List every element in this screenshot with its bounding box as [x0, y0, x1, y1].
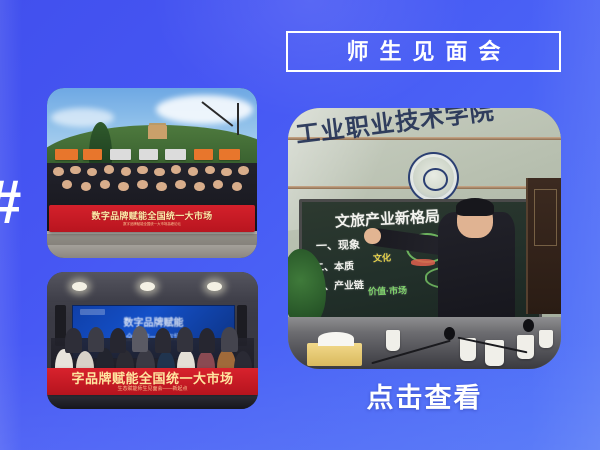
pagoda: [148, 125, 167, 139]
banner-subline: 数字品牌赋能全国统一大市场高峰论坛: [123, 223, 181, 226]
flag: [110, 149, 131, 160]
paper-cup: [539, 330, 553, 348]
event-banner: 数字品牌赋能全国统一大市场 数字品牌赋能全国统一大市场高峰论坛: [49, 205, 255, 232]
flag: [194, 149, 213, 160]
flag: [55, 149, 78, 160]
crane: [198, 98, 248, 152]
photo-card-indoor-conference[interactable]: 数字品牌赋能 全国统一大市场: [47, 272, 258, 409]
photo-indoor-conference: 数字品牌赋能 全国统一大市场: [47, 272, 258, 409]
page-title-box: 师生见面会: [286, 31, 561, 72]
chalk-line: 文旅产业新格局: [335, 209, 441, 229]
ceiling-light: [207, 282, 222, 292]
photo-card-outdoor-group[interactable]: 数字品牌赋能全国统一大市场 数字品牌赋能全国统一大市场高峰论坛: [47, 88, 257, 258]
screen-logo: [80, 309, 106, 315]
chalk-line: 价值·市场: [368, 286, 407, 296]
teacher-hand: [364, 228, 380, 244]
hashtag-icon: #: [0, 176, 33, 230]
school-emblem-icon: [408, 152, 458, 203]
cta-click-to-view[interactable]: 点击查看: [288, 385, 561, 412]
microphone-head: [444, 327, 455, 340]
photo-classroom: 工业职业技术学院 文旅产业新格局 一、现象 创新·问题 文化 二、本质 三、产业…: [288, 108, 561, 369]
banner-headline: 字品牌赋能全国统一大市场: [71, 372, 233, 385]
floor: [47, 397, 258, 409]
chalk-line: 一、现象: [316, 240, 360, 253]
paper-cup: [517, 335, 533, 358]
ceiling-light: [140, 282, 155, 292]
paper-cup: [386, 330, 400, 351]
event-banner: 字品牌赋能全国统一大市场 生态赋能师生见面会——新起点: [47, 368, 258, 395]
banner-subline: 生态赋能师生见面会——新起点: [117, 387, 187, 392]
ceiling-light: [72, 282, 87, 292]
chalk-line: 文化: [373, 254, 391, 264]
wooden-door: [526, 178, 561, 314]
teacher-hair: [456, 198, 494, 216]
flag: [165, 149, 186, 160]
photo-card-classroom[interactable]: 工业职业技术学院 文旅产业新格局 一、现象 创新·问题 文化 二、本质 三、产业…: [288, 108, 561, 369]
flag: [219, 149, 240, 160]
tissue-sheet: [318, 332, 353, 345]
photo-outdoor-group: 数字品牌赋能全国统一大市场 数字品牌赋能全国统一大市场高峰论坛: [47, 88, 257, 258]
flag: [139, 149, 158, 160]
flag: [83, 149, 102, 160]
banner-headline: 数字品牌赋能全国统一大市场: [92, 212, 213, 221]
page-title: 师生见面会: [335, 41, 511, 63]
promo-banner: # 师生见面会: [0, 0, 600, 450]
microphone-head: [523, 319, 534, 332]
tissue-box: [307, 343, 362, 366]
